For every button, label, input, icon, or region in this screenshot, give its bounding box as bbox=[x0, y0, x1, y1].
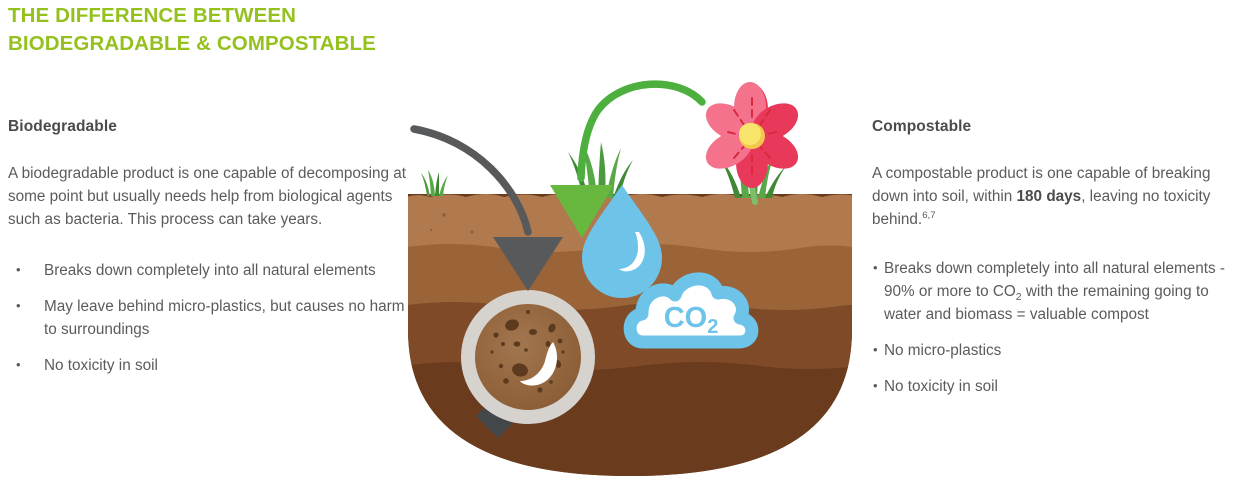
flower bbox=[699, 82, 804, 202]
bullet-text: No toxicity in soil bbox=[44, 355, 408, 378]
soil-speck bbox=[471, 231, 474, 234]
flower-center-highlight bbox=[739, 123, 761, 145]
grass-tuft-left bbox=[421, 170, 448, 196]
compostable-paragraph: A compostable product is one capable of … bbox=[872, 163, 1230, 232]
bullet-text: May leave behind micro-plastics, but cau… bbox=[44, 296, 408, 342]
soil-speck bbox=[430, 229, 432, 231]
list-item: No toxicity in soil bbox=[8, 355, 408, 378]
list-item: Breaks down completely into all natural … bbox=[872, 258, 1230, 327]
list-item: No micro-plastics bbox=[872, 340, 1230, 363]
list-item: No toxicity in soil bbox=[872, 376, 1230, 399]
soil-speck bbox=[442, 213, 445, 216]
magnifier-lens bbox=[475, 304, 581, 410]
infographic-illustration: CO2 bbox=[400, 80, 860, 484]
list-item: May leave behind micro-plastics, but cau… bbox=[8, 296, 408, 342]
biodegradable-paragraph: A biodegradable product is one capable o… bbox=[8, 163, 408, 232]
compostable-heading: Compostable bbox=[872, 118, 1230, 136]
compostable-bullet-list: Breaks down completely into all natural … bbox=[872, 258, 1230, 399]
biodegradable-heading: Biodegradable bbox=[8, 118, 408, 136]
footnote-reference: 6,7 bbox=[922, 210, 935, 221]
biodegradable-bullet-list: Breaks down completely into all natural … bbox=[8, 260, 408, 378]
page-title-line-1: THE DIFFERENCE BETWEEN bbox=[8, 2, 628, 30]
page-title: THE DIFFERENCE BETWEEN BIODEGRADABLE & C… bbox=[8, 2, 628, 59]
bullet-text: Breaks down completely into all natural … bbox=[44, 260, 408, 283]
biodegradable-column: Biodegradable A biodegradable product is… bbox=[8, 118, 408, 391]
bullet-text-before: No toxicity in soil bbox=[884, 378, 998, 395]
co2-cloud-icon: CO2 bbox=[630, 279, 752, 342]
page-title-line-2: BIODEGRADABLE & COMPOSTABLE bbox=[8, 30, 628, 58]
paragraph-bold-days: 180 days bbox=[1017, 188, 1082, 205]
bullet-text-before: No micro-plastics bbox=[884, 342, 1001, 359]
compostable-column: Compostable A compostable product is one… bbox=[872, 118, 1230, 412]
list-item: Breaks down completely into all natural … bbox=[8, 260, 408, 283]
